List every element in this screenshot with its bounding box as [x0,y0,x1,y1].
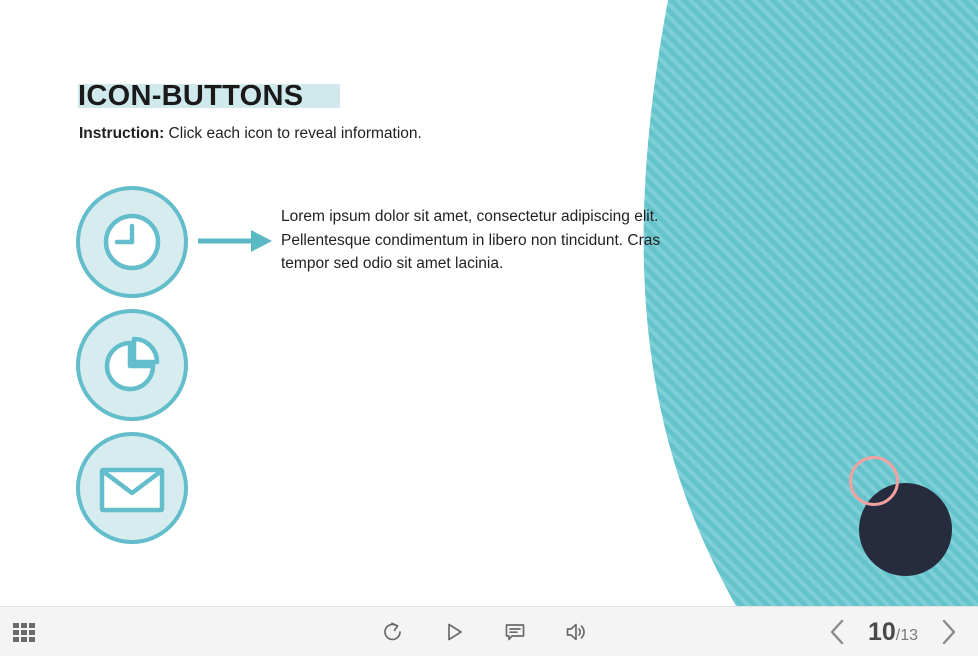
current-page: 10 [868,618,896,647]
clock-icon [101,211,163,273]
volume-icon[interactable] [563,619,589,645]
toolbar-navigation: 10 /13 [826,607,960,656]
page-indicator: 10 /13 [868,618,918,647]
pie-chart-icon [100,333,164,397]
instruction-line: Instruction: Click each icon to reveal i… [79,125,422,143]
chevron-left-icon[interactable] [826,617,850,647]
body-text: Lorem ipsum dolor sit amet, consectetur … [281,205,681,276]
icon-button-clock[interactable] [76,186,188,298]
toolbar-center-controls [380,607,589,656]
icon-button-pie-chart[interactable] [76,309,188,421]
chevron-right-icon[interactable] [936,617,960,647]
envelope-icon [97,460,167,516]
grid-icon[interactable] [13,623,41,643]
page-title: ICON-BUTTONS [78,78,303,114]
decorative-pink-ring [849,456,899,506]
total-pages: /13 [896,627,918,645]
arrow-right-icon [196,226,274,256]
instruction-label: Instruction: [79,125,164,142]
instruction-text: Click each icon to reveal information. [164,125,422,142]
play-icon[interactable] [441,619,467,645]
comment-icon[interactable] [502,619,528,645]
replay-icon[interactable] [380,619,406,645]
slide-canvas: ICON-BUTTONS Instruction: Click each ico… [0,0,978,656]
player-toolbar: 10 /13 [0,606,978,656]
icon-button-envelope[interactable] [76,432,188,544]
page-title-wrapper: ICON-BUTTONS [78,78,303,114]
